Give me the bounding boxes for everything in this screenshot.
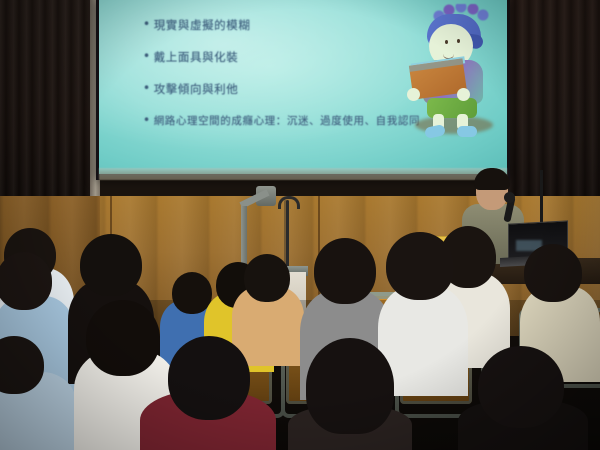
- audience-head: [0, 252, 52, 310]
- bullet-marker-icon: •: [143, 50, 151, 63]
- audience-head: [306, 338, 394, 434]
- bullet-marker-icon: •: [143, 82, 151, 95]
- audience-head: [86, 300, 160, 376]
- audience-head: [386, 232, 454, 300]
- projection-screen: • 現實與虛擬的模糊 • 戴上面具與化裝 • 攻擊傾向與利他 • 網路心理空間的…: [99, 0, 507, 174]
- audience-head: [168, 336, 250, 420]
- slide-bullet-1-text: 現實與虛擬的模糊: [154, 18, 251, 32]
- cartoon-child-eye-left: [445, 40, 448, 44]
- audience-head: [244, 254, 290, 302]
- projector-cable: [286, 200, 289, 270]
- slide-bullet-4-text: 網路心理空間的成癮心理：沉迷、過度使用、自我認同: [154, 114, 420, 128]
- cartoon-child-hand-right: [457, 88, 470, 101]
- stage-curtain-right: [508, 0, 600, 200]
- bullet-marker-icon: •: [143, 18, 151, 31]
- cartoon-child-illustration: [407, 4, 499, 144]
- slide-bullet-3-text: 攻擊傾向與利他: [154, 82, 239, 96]
- presenter-hair: [474, 168, 510, 190]
- projection-screen-bottom-edge: [99, 168, 507, 180]
- cartoon-child-shoe-right: [457, 126, 477, 137]
- lecture-hall-photo: • 現實與虛擬的模糊 • 戴上面具與化裝 • 攻擊傾向與利他 • 網路心理空間的…: [0, 0, 600, 450]
- cartoon-child-hand-left: [407, 88, 420, 101]
- audience-head: [314, 238, 376, 304]
- audience-head: [478, 346, 564, 428]
- stage-curtain-left: [0, 0, 98, 206]
- bullet-marker-icon: •: [143, 114, 151, 127]
- microphone-head-icon: [504, 192, 515, 203]
- overhead-projector-arm: [241, 206, 247, 268]
- cartoon-child-eye-right: [457, 39, 460, 43]
- projector-cable-loop: [278, 196, 300, 209]
- audience-head: [524, 244, 582, 302]
- slide-bullet-2-text: 戴上面具與化裝: [154, 50, 239, 64]
- audience-head: [80, 234, 142, 296]
